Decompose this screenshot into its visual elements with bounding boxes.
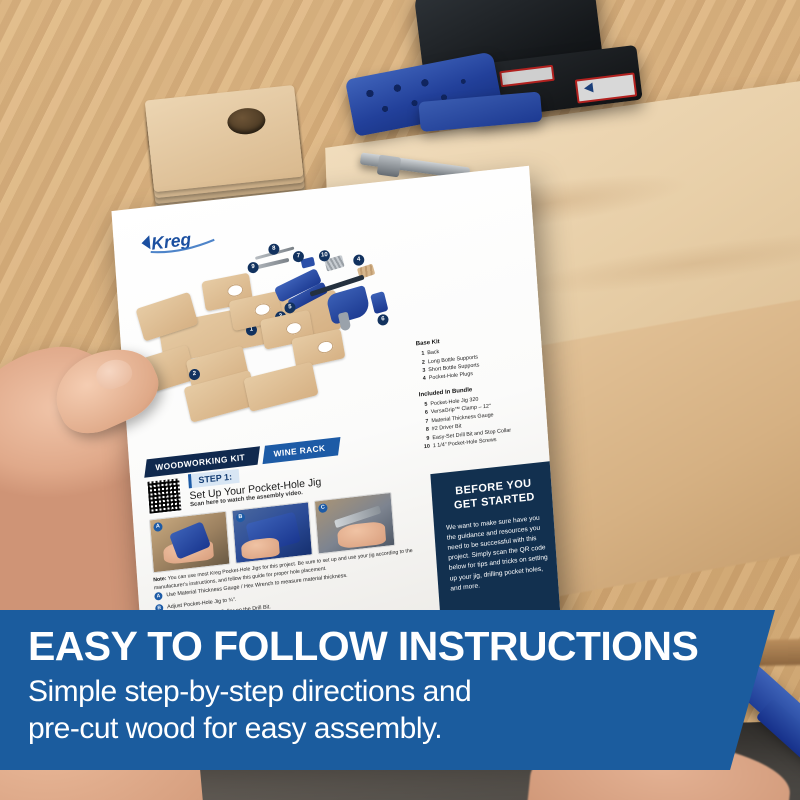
sub-step-badge: A xyxy=(154,592,163,601)
exploded-parts-illustration: 1 3 xyxy=(129,225,442,467)
battery-arrow-icon xyxy=(583,82,593,93)
legend-num: 4 xyxy=(418,375,426,384)
legend-num: 10 xyxy=(422,443,430,452)
photo-label-a: A xyxy=(153,522,163,532)
info-panel-body: We want to make sure have you the guidan… xyxy=(446,512,550,594)
marketing-banner: EASY TO FOLLOW INSTRUCTIONS Simple step-… xyxy=(0,610,775,770)
before-you-get-started-panel: BEFORE YOU GET STARTED We want to make s… xyxy=(430,461,560,634)
callout-6: 6 xyxy=(377,314,389,326)
banner-subline-1: Simple step-by-step directions and xyxy=(28,673,775,710)
photo-label-b: B xyxy=(236,513,246,523)
step-photo-b: B xyxy=(231,501,313,564)
stop-collar xyxy=(377,155,402,178)
qr-code[interactable] xyxy=(146,477,182,515)
banner-headline: EASY TO FOLLOW INSTRUCTIONS xyxy=(28,626,775,667)
product-photo-scene: Kreg 1 3 xyxy=(0,0,800,800)
step-photo-c: C xyxy=(314,492,396,555)
parts-legend: Base Kit 1Back 2Long Bottle Supports 3Sh… xyxy=(416,329,534,451)
tab-wine-rack-label: WINE RACK xyxy=(274,443,326,459)
tool-clamp-jaw xyxy=(370,291,388,314)
instruction-sheet[interactable]: Kreg 1 3 xyxy=(111,166,560,663)
step-photo-a: A xyxy=(149,511,231,574)
banner-subline-2: pre-cut wood for easy assembly. xyxy=(28,710,775,747)
callout-4: 4 xyxy=(353,254,365,266)
block-center-hole xyxy=(226,106,267,136)
info-panel-title: BEFORE YOU GET STARTED xyxy=(443,476,544,514)
part-long-support-d xyxy=(243,362,318,412)
photo-label-c: C xyxy=(318,503,328,513)
callout-9: 9 xyxy=(247,262,259,274)
note-prefix: Note: xyxy=(153,576,167,583)
